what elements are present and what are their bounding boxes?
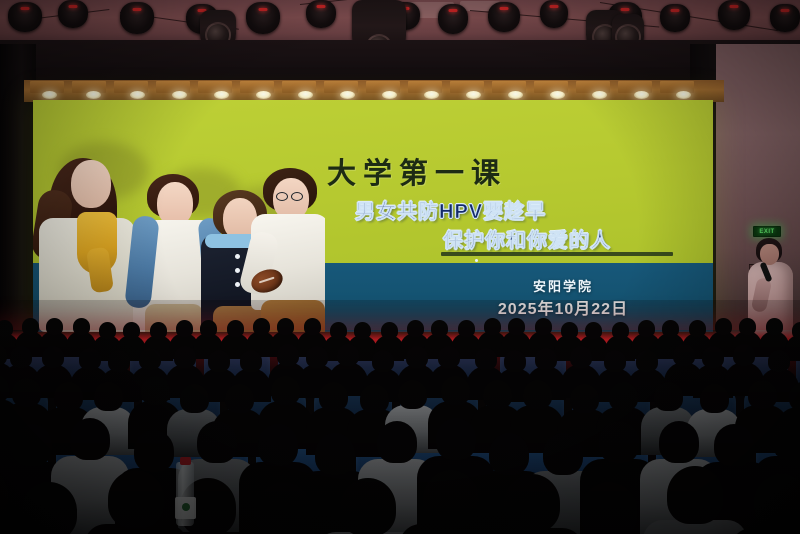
audience-member-head xyxy=(253,318,270,335)
stage-light-fixture xyxy=(246,2,280,34)
audience-member-head xyxy=(337,344,359,366)
downlight-icon xyxy=(172,91,187,99)
fixture-led-icon xyxy=(133,8,142,11)
audience-member-head xyxy=(636,350,658,372)
audience-member-head xyxy=(508,318,525,335)
audience-member-head xyxy=(673,344,695,366)
audience-member-head xyxy=(277,318,294,335)
audience-member-head xyxy=(659,421,699,463)
audience-member-head xyxy=(436,418,476,460)
fixture-led-icon xyxy=(781,9,790,12)
slide-title: 大学第一课 xyxy=(277,150,557,192)
audience-member-head xyxy=(174,346,196,368)
audience-member-head xyxy=(667,466,723,524)
auditorium-scene: 大学第一课 男女共防HPV要趁早 保护你和你爱的人 安阳学院 2025年10月2… xyxy=(0,0,800,534)
audience-member-head xyxy=(766,318,783,335)
audience-member-head xyxy=(315,433,355,475)
audience-member-head xyxy=(141,376,170,405)
audience-member-head xyxy=(319,382,348,411)
audience-member-head xyxy=(398,380,427,409)
audience-member-head xyxy=(330,322,347,339)
stage-light-fixture xyxy=(660,4,690,32)
audience-member-head xyxy=(73,318,90,335)
fixture-led-icon xyxy=(317,5,326,8)
audience-member-head xyxy=(0,320,13,337)
audience-member-head xyxy=(10,346,32,368)
audience-member-head xyxy=(739,318,756,335)
downlight-icon xyxy=(214,91,229,99)
audience-member-head xyxy=(423,470,479,528)
audience-member-head xyxy=(360,384,389,413)
audience-member-head xyxy=(240,350,262,372)
downlight-icon xyxy=(592,91,607,99)
audience-member-head xyxy=(225,384,254,413)
audience-area xyxy=(0,300,800,534)
water-bottle-label xyxy=(175,497,196,519)
downlight-icon xyxy=(508,91,523,99)
audience-member-head xyxy=(12,424,52,466)
fixture-led-icon xyxy=(69,5,78,8)
fixture-led-icon xyxy=(621,8,630,11)
audience-member-head xyxy=(662,320,679,337)
fixture-led-icon xyxy=(449,9,458,12)
soffit-strip xyxy=(24,80,724,102)
audience-member-head xyxy=(535,318,552,335)
stage-light-fixture xyxy=(718,0,750,30)
audience-member-head xyxy=(504,350,526,372)
fixture-led-icon xyxy=(500,7,509,10)
audience-member-head xyxy=(200,320,217,337)
slide-subtitle-line2: 保护你和你爱的人 xyxy=(443,224,611,253)
audience-member-head xyxy=(134,430,174,472)
audience-member-head xyxy=(654,382,683,411)
audience-member-head xyxy=(689,320,706,337)
downlight-icon xyxy=(130,91,145,99)
audience-member-head xyxy=(372,350,394,372)
audience-member-head xyxy=(714,424,754,466)
audience-member-head xyxy=(54,382,83,411)
downlight-icon xyxy=(382,91,397,99)
audience-member-head xyxy=(504,474,560,532)
audience-member-head xyxy=(21,482,77,534)
audience-member-head xyxy=(227,320,244,337)
stage-light-fixture xyxy=(438,4,468,34)
audience-member-head xyxy=(258,424,298,466)
audience-member-head xyxy=(458,320,475,337)
exit-sign: EXIT xyxy=(753,226,781,237)
audience-member-head xyxy=(581,482,637,534)
fixture-led-icon xyxy=(550,5,559,8)
exit-sign-label: EXIT xyxy=(759,229,774,235)
audience-member-head xyxy=(123,322,140,339)
stage-light-fixture xyxy=(120,2,154,34)
cursor-dot xyxy=(475,259,478,262)
downlight-icon xyxy=(256,91,271,99)
audience-member-head xyxy=(271,376,300,405)
downlight-icon xyxy=(424,91,439,99)
audience-member-head xyxy=(304,318,321,335)
downlight-icon xyxy=(86,91,101,99)
audience-member-head xyxy=(483,380,512,409)
audience-member-head xyxy=(70,418,110,460)
audience-member-head xyxy=(484,318,501,335)
fixture-led-icon xyxy=(259,8,268,11)
downlight-icon xyxy=(676,91,691,99)
audience-member-head xyxy=(277,344,299,366)
audience-member-head xyxy=(715,318,732,335)
audience-member-head xyxy=(42,346,64,368)
audience-member-head xyxy=(381,322,398,339)
audience-member-head xyxy=(609,382,638,411)
downlight-icon xyxy=(298,91,313,99)
stage-light-fixture xyxy=(488,2,520,32)
audience-member-head xyxy=(340,478,396,534)
audience-member-head xyxy=(638,320,655,337)
audience-member-head xyxy=(108,350,130,372)
audience-member-head xyxy=(702,346,724,368)
audience-member-head xyxy=(377,421,417,463)
audience-member-head xyxy=(208,350,230,372)
audience-member-head xyxy=(768,350,790,372)
slide-organization: 安阳学院 xyxy=(463,276,663,295)
audience-member-head xyxy=(99,322,116,339)
audience-member-head xyxy=(139,348,161,370)
audience-member-head xyxy=(94,382,123,411)
audience-member-head xyxy=(406,346,428,368)
audience-member-head xyxy=(733,344,755,366)
subtitle-underline xyxy=(441,252,673,256)
downlight-icon xyxy=(550,91,565,99)
audience-member-head xyxy=(431,320,448,337)
audience-member-head xyxy=(180,384,209,413)
fixture-led-icon xyxy=(671,9,680,12)
audience-member-head xyxy=(150,322,167,339)
audience-member-head xyxy=(561,322,578,339)
audience-member-head xyxy=(700,384,729,413)
audience-member-head xyxy=(176,320,193,337)
stage-light-fixture xyxy=(770,4,800,32)
stage-light-fixture xyxy=(540,0,568,28)
stage-light-fixture xyxy=(58,0,88,28)
fixture-led-icon xyxy=(21,7,30,10)
audience-member-head xyxy=(754,474,800,532)
audience-member-head xyxy=(12,378,41,407)
fixture-led-icon xyxy=(730,5,739,8)
audience-member-head xyxy=(570,384,599,413)
audience-member-head xyxy=(407,320,424,337)
audience-member-head xyxy=(197,421,237,463)
audience-member-head xyxy=(585,322,602,339)
stage-light-fixture xyxy=(306,0,336,28)
downlight-icon xyxy=(42,91,57,99)
audience-member-head xyxy=(748,380,777,409)
audience-member-head xyxy=(441,376,470,405)
stage-light-fixture xyxy=(8,2,42,32)
audience-member-head xyxy=(108,470,164,528)
audience-member-head xyxy=(599,421,639,463)
led-presentation-screen: 大学第一课 男女共防HPV要趁早 保护你和你爱的人 安阳学院 2025年10月2… xyxy=(33,100,713,332)
audience-member-head xyxy=(772,418,800,460)
water-bottle-cap xyxy=(180,457,191,465)
audience-member-head xyxy=(306,346,328,368)
slide-subtitle-line1: 男女共防HPV要趁早 xyxy=(355,195,546,224)
audience-member-head xyxy=(489,433,529,475)
students-photo xyxy=(33,108,325,332)
audience-member-head xyxy=(22,318,39,335)
audience-member-head xyxy=(543,433,583,475)
audience-member-head xyxy=(792,322,800,339)
downlight-icon xyxy=(340,91,355,99)
downlight-icon xyxy=(466,91,481,99)
audience-member-head xyxy=(354,322,371,339)
audience-member-head xyxy=(535,348,557,370)
audience-member-head xyxy=(46,318,63,335)
audience-member-head xyxy=(523,380,552,409)
audience-member-head xyxy=(604,350,626,372)
audience-member-head xyxy=(79,348,101,370)
audience-member-head xyxy=(612,322,629,339)
audience-member-head xyxy=(475,348,497,370)
audience-member-head xyxy=(438,346,460,368)
downlight-icon xyxy=(634,91,649,99)
audience-member-head xyxy=(256,482,312,534)
audience-member-head xyxy=(570,346,592,368)
